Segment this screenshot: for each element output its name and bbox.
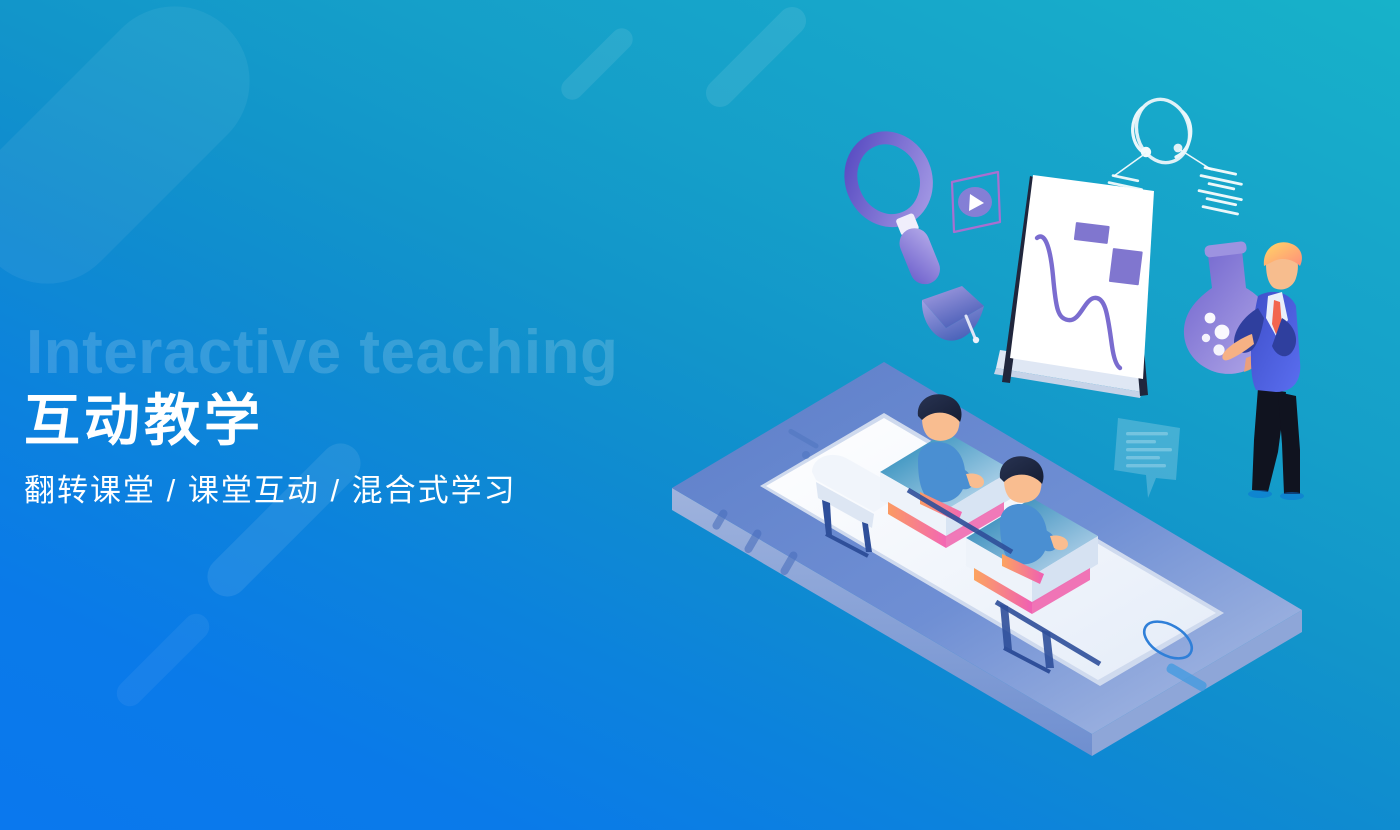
tablet-device: [672, 362, 1302, 756]
tablet-home-button: [1138, 614, 1198, 666]
student-desk-back: [880, 432, 1012, 548]
tablet-indicator: [1165, 662, 1208, 693]
desk-legs: [1000, 604, 1054, 668]
copy-block: Interactive teaching 互动教学 翻转课堂 / 课堂互动 / …: [24, 322, 744, 509]
student-figure-back: [918, 394, 984, 522]
whiteboard-chart-line: [1037, 237, 1120, 368]
desk-rails: [908, 490, 1100, 664]
streak-top-mid-small: [557, 24, 638, 105]
whiteboard-note-1: [1074, 222, 1110, 244]
ghost-title: Interactive teaching: [26, 322, 744, 384]
graduation-cap-icon: [922, 286, 984, 343]
streak-lower-left: [111, 608, 214, 711]
idea-text-lines-left: [1105, 174, 1143, 209]
teacher-figure: [1184, 241, 1304, 500]
student-desk-front: [966, 498, 1098, 614]
tablet-shadow: [676, 372, 1296, 738]
flask-icon: [1184, 241, 1274, 374]
tablet-speaker: [788, 428, 820, 449]
streak-top-right: [700, 1, 812, 113]
interactive-teaching-banner: Interactive teaching 互动教学 翻转课堂 / 课堂互动 / …: [0, 0, 1400, 830]
tablet-buttons: [711, 508, 799, 577]
whiteboard-easel: [994, 175, 1154, 398]
student-figure-front: [1000, 456, 1068, 584]
page-subtitle: 翻转课堂 / 课堂互动 / 混合式学习: [24, 472, 744, 509]
speech-bubble-icon: [1114, 418, 1180, 498]
whiteboard-note-2: [1109, 248, 1143, 285]
tablet-camera: [802, 451, 810, 459]
lightbulb-idea-icon: [1105, 93, 1243, 216]
idea-text-lines-right: [1197, 166, 1243, 216]
streak-top-left-large: [0, 0, 281, 315]
page-title: 互动教学: [24, 388, 744, 454]
magnifier-icon: [839, 126, 965, 297]
video-play-icon: [952, 172, 1000, 232]
desk-empty: [812, 455, 906, 556]
